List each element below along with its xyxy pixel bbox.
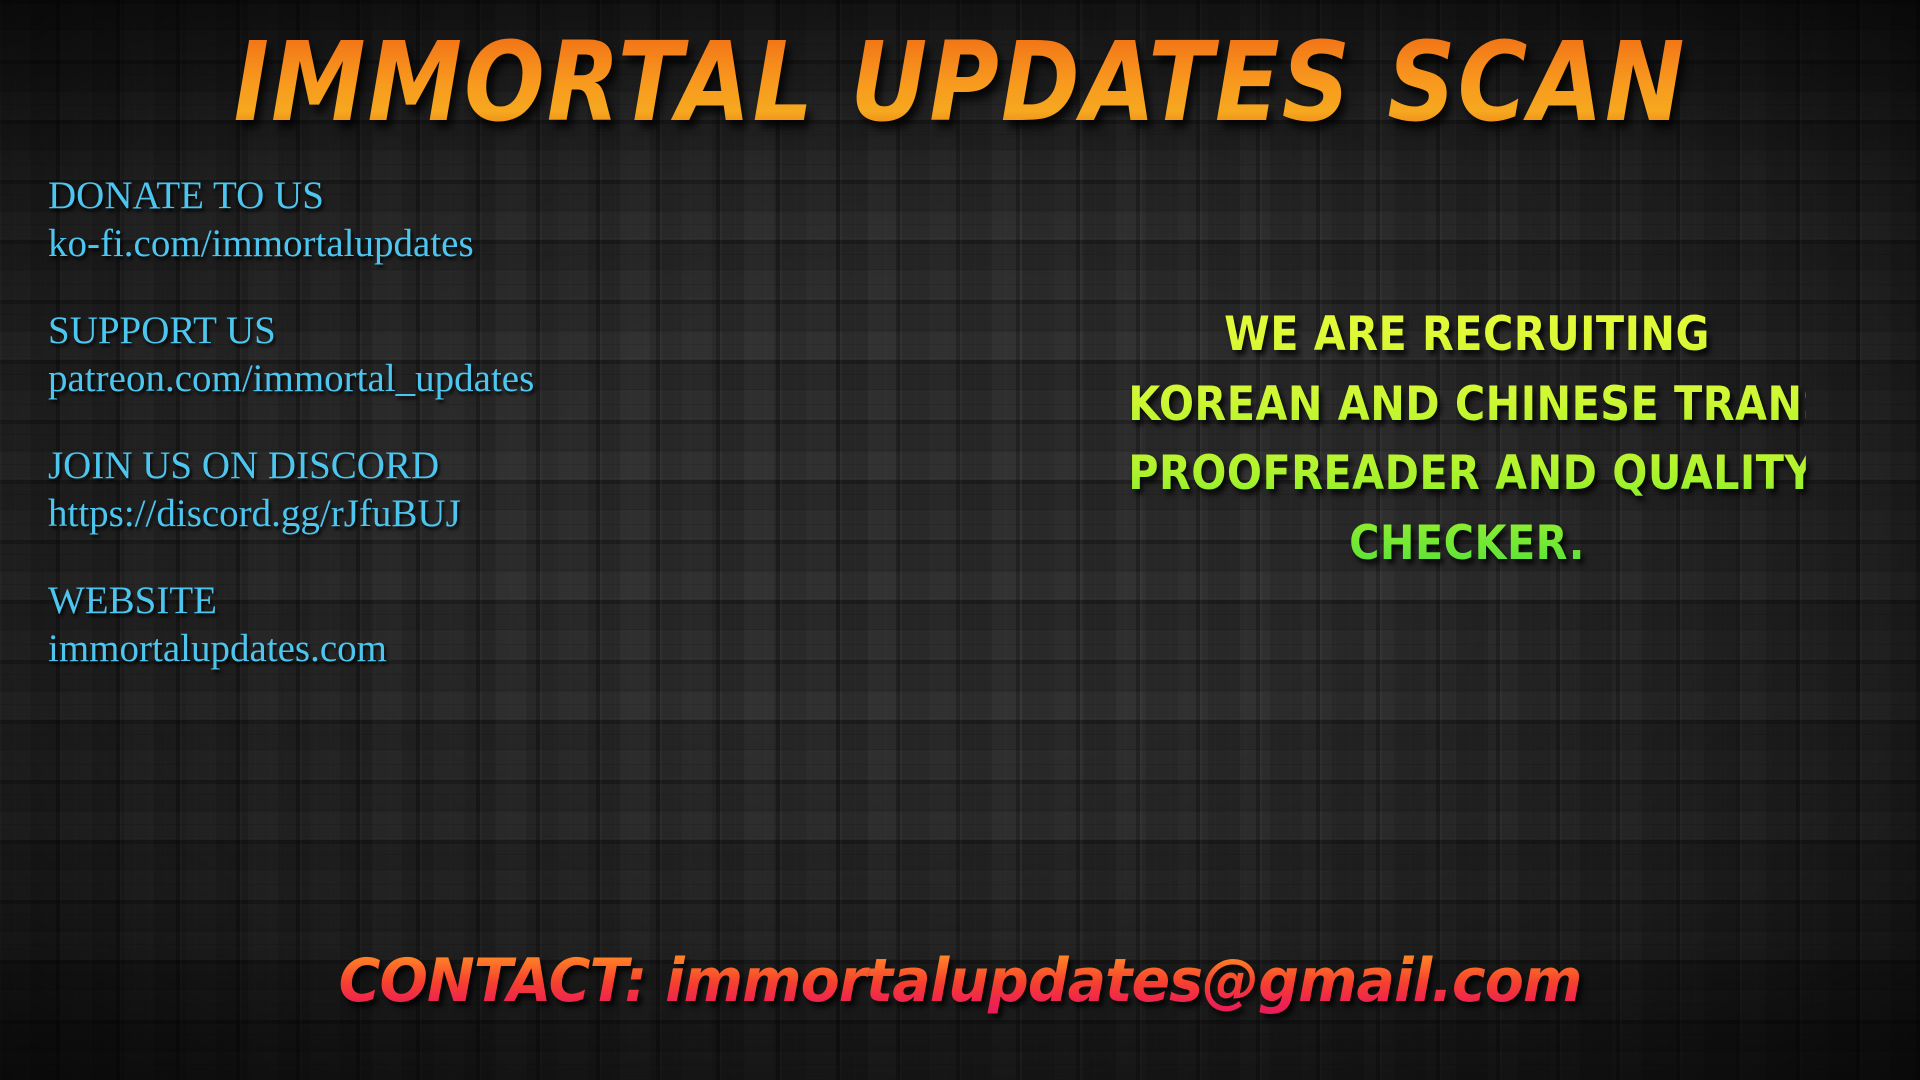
- recruiting-notice: WE ARE RECRUITING KOREAN AND CHINESE TRA…: [1128, 300, 1806, 578]
- website-label: WEBSITE: [48, 577, 688, 625]
- links-column: DONATE TO US ko-fi.com/immortalupdates S…: [48, 172, 688, 673]
- support-label: SUPPORT US: [48, 307, 688, 355]
- discord-link[interactable]: https://discord.gg/rJfuBUJ: [48, 490, 688, 538]
- support-link[interactable]: patreon.com/immortal_updates: [48, 355, 688, 403]
- link-block-donate: DONATE TO US ko-fi.com/immortalupdates: [48, 172, 688, 267]
- contact-email[interactable]: CONTACT: immortalupdates@gmail.com: [48, 946, 1872, 1016]
- link-block-discord: JOIN US ON DISCORD https://discord.gg/rJ…: [48, 442, 688, 537]
- website-link[interactable]: immortalupdates.com: [48, 625, 688, 673]
- link-block-support: SUPPORT US patreon.com/immortal_updates: [48, 307, 688, 402]
- donate-link[interactable]: ko-fi.com/immortalupdates: [48, 220, 688, 268]
- banner-content: IMMORTAL UPDATES SCAN DONATE TO US ko-fi…: [0, 0, 1920, 1080]
- page-title: IMMORTAL UPDATES SCAN: [29, 26, 1891, 141]
- recruiting-line-1: WE ARE RECRUITING: [1128, 300, 1806, 370]
- recruiting-line-2: KOREAN AND CHINESE TRANSLATOR,: [1128, 370, 1806, 440]
- discord-label: JOIN US ON DISCORD: [48, 442, 688, 490]
- recruiting-line-4: CHECKER.: [1128, 509, 1806, 579]
- link-block-website: WEBSITE immortalupdates.com: [48, 577, 688, 672]
- promo-banner: IMMORTAL UPDATES SCAN DONATE TO US ko-fi…: [0, 0, 1920, 1080]
- recruiting-line-3: PROOFREADER AND QUALITY: [1128, 439, 1806, 509]
- donate-label: DONATE TO US: [48, 172, 688, 220]
